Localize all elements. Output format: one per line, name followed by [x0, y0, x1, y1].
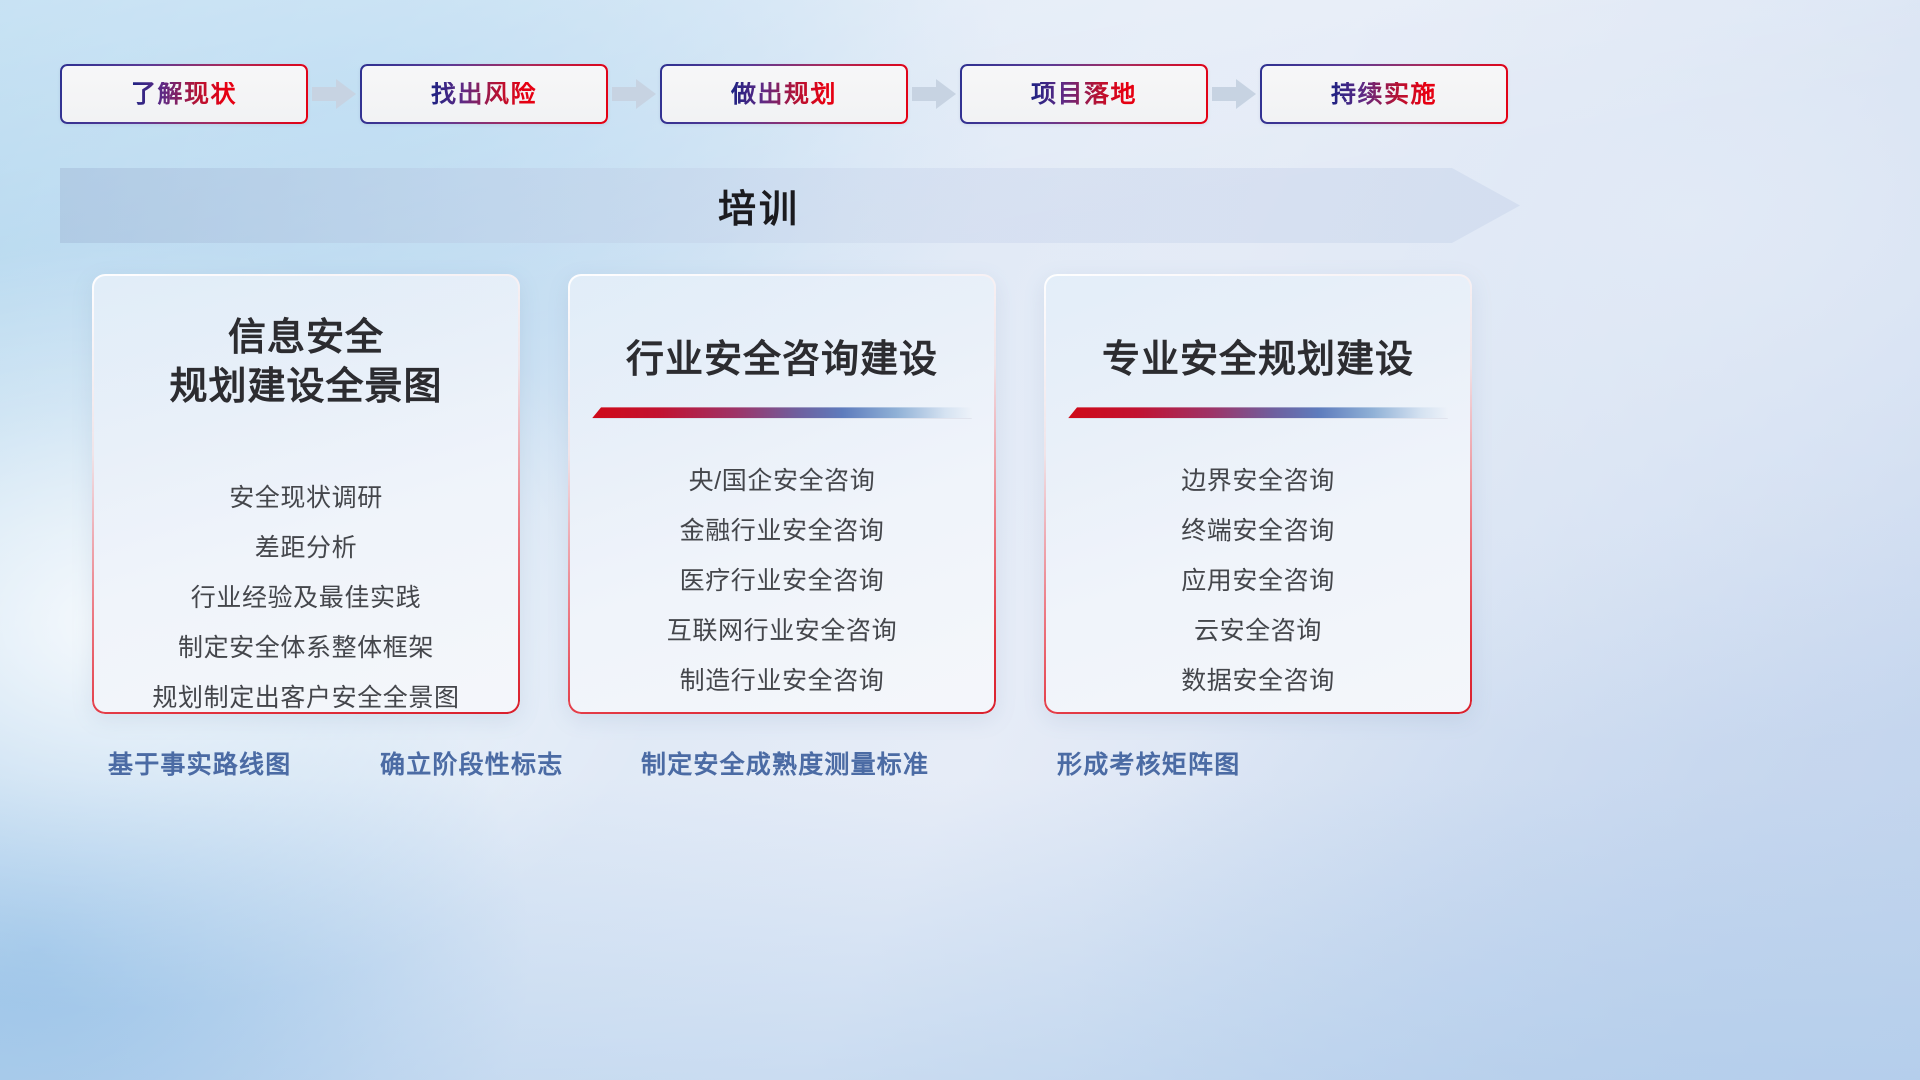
capability-card-1-list: 安全现状调研 差距分析 行业经验及最佳实践 制定安全体系整体框架 规划制定出客户…: [152, 477, 459, 714]
step-chip-5[interactable]: 持续实施: [1260, 64, 1508, 124]
capability-card-1[interactable]: 信息安全 规划建设全景图 安全现状调研 差距分析 行业经验及最佳实践 制定安全体…: [92, 274, 520, 714]
step-chip-2[interactable]: 找出风险: [360, 64, 608, 124]
step-chip-3-label: 做出规划: [731, 82, 837, 107]
capability-card-row: 信息安全 规划建设全景图 安全现状调研 差距分析 行业经验及最佳实践 制定安全体…: [92, 274, 1472, 714]
list-item: 云安全咨询: [1194, 610, 1322, 652]
list-item: 终端安全咨询: [1181, 510, 1335, 552]
capability-card-2-divider: [592, 407, 972, 418]
capability-card-1-body: 信息安全 规划建设全景图 安全现状调研 差距分析 行业经验及最佳实践 制定安全体…: [92, 274, 520, 714]
list-item: 央/国企安全咨询: [689, 460, 876, 502]
step-arrow-icon-2: [608, 79, 660, 109]
capability-card-3-body: 专业安全规划建设 边界安全咨询 终端安全咨询 应用安全咨询 云安全咨询 数据安全…: [1044, 274, 1472, 714]
list-item: 安全现状调研: [229, 477, 383, 519]
step-chip-5-label: 持续实施: [1331, 82, 1437, 107]
capability-card-3-divider: [1068, 407, 1448, 418]
list-item: 边界安全咨询: [1181, 460, 1335, 502]
process-step-row: 了解现状 找出风险 做出规划 项目落地 持续实施: [60, 63, 1560, 125]
capability-card-2-list: 央/国企安全咨询 金融行业安全咨询 医疗行业安全咨询 互联网行业安全咨询 制造行…: [667, 460, 897, 702]
step-chip-3[interactable]: 做出规划: [660, 64, 908, 124]
training-banner-title: 培训: [60, 168, 1520, 243]
step-chip-1-label: 了解现状: [131, 82, 237, 107]
step-chip-1[interactable]: 了解现状: [60, 64, 308, 124]
step-chip-2-label: 找出风险: [431, 82, 537, 107]
list-item: 制造行业安全咨询: [680, 660, 885, 702]
capability-card-2[interactable]: 行业安全咨询建设 央/国企安全咨询 金融行业安全咨询 医疗行业安全咨询 互联网行…: [568, 274, 996, 714]
training-banner: 培训: [60, 168, 1520, 243]
list-item: 互联网行业安全咨询: [667, 610, 897, 652]
capability-card-3-list: 边界安全咨询 终端安全咨询 应用安全咨询 云安全咨询 数据安全咨询: [1181, 460, 1335, 702]
list-item: 医疗行业安全咨询: [680, 560, 885, 602]
capability-card-2-body: 行业安全咨询建设 央/国企安全咨询 金融行业安全咨询 医疗行业安全咨询 互联网行…: [568, 274, 996, 714]
outcome-label-4: 形成考核矩阵图: [1057, 745, 1240, 781]
capability-card-1-title: 信息安全 规划建设全景图: [169, 314, 442, 413]
list-item: 差距分析: [255, 527, 357, 569]
list-item: 规划制定出客户安全全景图: [152, 677, 459, 714]
step-chip-4[interactable]: 项目落地: [960, 64, 1208, 124]
capability-card-2-title: 行业安全咨询建设: [626, 336, 938, 385]
step-arrow-icon-1: [308, 79, 360, 109]
list-item: 制定安全体系整体框架: [178, 627, 434, 669]
outcome-label-3: 制定安全成熟度测量标准: [641, 745, 929, 781]
capability-card-3-title: 专业安全规划建设: [1102, 336, 1414, 385]
step-chip-4-label: 项目落地: [1031, 82, 1137, 107]
list-item: 金融行业安全咨询: [680, 510, 885, 552]
outcome-label-1: 基于事实路线图: [108, 745, 291, 781]
outcome-label-row: 基于事实路线图 确立阶段性标志 制定安全成熟度测量标准 形成考核矩阵图: [0, 745, 1920, 789]
list-item: 数据安全咨询: [1181, 660, 1335, 702]
list-item: 行业经验及最佳实践: [191, 577, 421, 619]
list-item: 应用安全咨询: [1181, 560, 1335, 602]
step-arrow-icon-3: [908, 79, 960, 109]
outcome-label-2: 确立阶段性标志: [380, 745, 563, 781]
step-arrow-icon-4: [1208, 79, 1260, 109]
capability-card-3[interactable]: 专业安全规划建设 边界安全咨询 终端安全咨询 应用安全咨询 云安全咨询 数据安全…: [1044, 274, 1472, 714]
